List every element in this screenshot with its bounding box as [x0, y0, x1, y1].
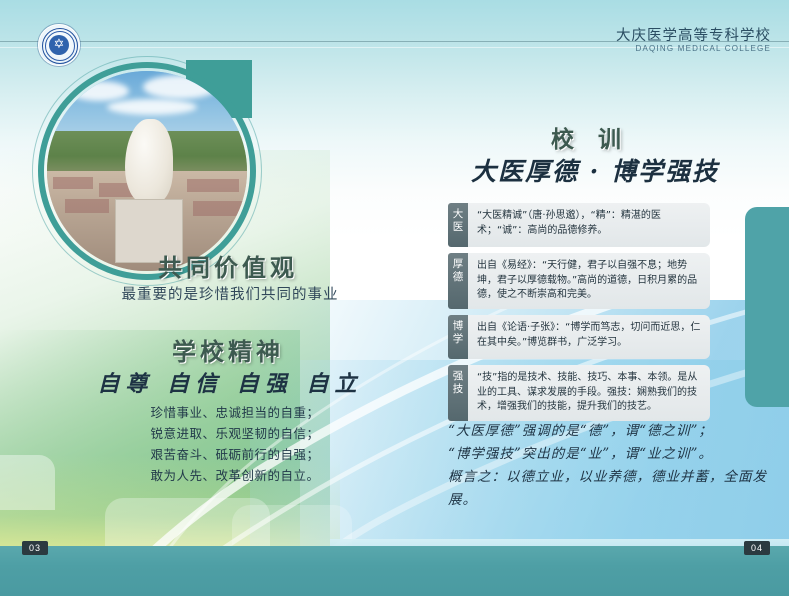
photo-statue — [125, 119, 173, 203]
school-seal-logo: ✡ — [38, 24, 80, 66]
photo-tile-e — [193, 201, 243, 216]
motto-explanation-box: 大医 “大医精诚”（唐·孙思邈），“精”：精湛的医术；“诚”：高尚的品德修养。 — [448, 203, 710, 247]
seal-glyph-icon: ✡ — [49, 34, 69, 56]
photo-cloud-c — [107, 99, 197, 115]
core-values-subtitle: 最重要的是珍惜我们共同的事业 — [80, 283, 380, 304]
campus-sculpture-photo — [47, 71, 247, 271]
decorative-square-two — [0, 455, 55, 510]
motto-box-text: 出自《易经》：“天行健，君子以自强不息；地势坤，君子以厚德载物。”高尚的道德，日… — [468, 253, 710, 309]
conclusion-line: 概言之：以德立业，以业养德，德业并蓄，全面发展。 — [448, 466, 768, 512]
photo-cloud-b — [143, 75, 218, 99]
motto-explanation-box: 强技 “技”指的是技术、技能、技巧、本事、本领。是从业的工具、谋求发展的手段。强… — [448, 365, 710, 421]
motto-box-tag: 博学 — [448, 315, 468, 359]
school-spirit-line-list: 珍惜事业、忠诚担当的自重； 锐意进取、乐观坚韧的自信； 艰苦奋斗、砥砺前行的自强… — [110, 402, 360, 486]
photo-tile-a — [53, 177, 93, 189]
school-spirit-title: 学校精神 — [128, 332, 328, 367]
motto-box-text: “大医精诚”（唐·孙思邈），“精”：精湛的医术；“诚”：高尚的品德修养。 — [468, 203, 710, 247]
motto-box-text: 出自《论语·子张》：“博学而笃志，切问而近思，仁在其中矣。”博览群书，广泛学习。 — [468, 315, 710, 359]
motto-box-tag: 大医 — [448, 203, 468, 247]
school-spirit-line: 珍惜事业、忠诚担当的自重； — [110, 402, 360, 423]
school-spirit-line: 敢为人先、改革创新的自立。 — [110, 465, 360, 486]
right-edge-teal-panel — [745, 207, 789, 407]
school-spirit-calligraphy: 自尊 自信 自强 自立 — [95, 366, 365, 398]
motto-box-tag: 厚德 — [448, 253, 468, 309]
motto-explanation-box: 博学 出自《论语·子张》：“博学而笃志，切问而近思，仁在其中矣。”博览群书，广泛… — [448, 315, 710, 359]
motto-explanation-box: 厚德 出自《易经》：“天行健，君子以自强不息；地势坤，君子以厚德载物。”高尚的道… — [448, 253, 710, 309]
header-title-cn: 大庆医学高等专科学校 — [616, 24, 771, 45]
photo-tile-c — [187, 179, 239, 192]
motto-conclusion: “大医厚德”强调的是“德”，谓“德之训”； “博学强技”突出的是“业”，谓“业之… — [448, 420, 768, 512]
photo-tile-d — [65, 199, 109, 213]
motto-title: 校 训 — [540, 120, 640, 154]
bottom-teal-band — [0, 546, 789, 596]
header-title-en: DAQING MEDICAL COLLEGE — [636, 44, 771, 53]
page-number-left: 03 — [22, 541, 48, 555]
brochure-spread: ✡ 大庆医学高等专科学校 DAQING MEDICAL COLLEGE 共同价值… — [0, 0, 789, 596]
motto-box-text: “技”指的是技术、技能、技巧、本事、本领。是从业的工具、谋求发展的手段。强技：娴… — [468, 365, 710, 421]
core-values-title: 共同价值观 — [128, 248, 328, 283]
motto-box-tag: 强技 — [448, 365, 468, 421]
school-spirit-line: 锐意进取、乐观坚韧的自信； — [110, 423, 360, 444]
school-spirit-line: 艰苦奋斗、砥砺前行的自强； — [110, 444, 360, 465]
conclusion-line: “博学强技”突出的是“业”，谓“业之训”。 — [448, 443, 768, 466]
motto-calligraphy: 大医厚德 · 博学强技 — [450, 152, 740, 188]
page-number-right: 04 — [744, 541, 770, 555]
conclusion-line: “大医厚德”强调的是“德”，谓“德之训”； — [448, 420, 768, 443]
photo-cloud-a — [69, 81, 129, 101]
